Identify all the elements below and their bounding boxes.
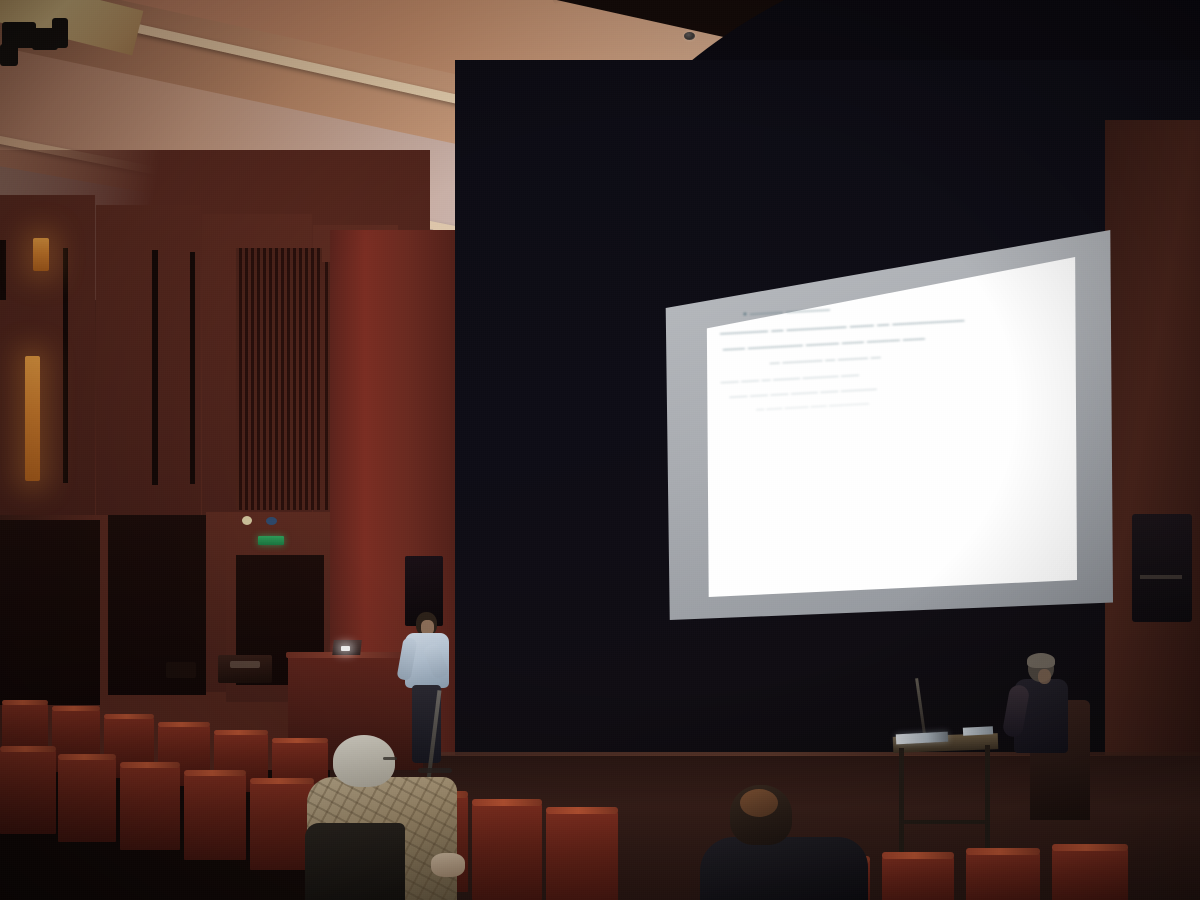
laptop-screen-glow [341, 646, 350, 651]
theater-seat[interactable] [0, 748, 56, 834]
audience-member-front-center [700, 785, 875, 900]
table-stretcher [900, 820, 988, 824]
table-leg [899, 748, 904, 853]
theater-seat-top [214, 730, 268, 735]
theater-seat-top [104, 714, 154, 719]
fluted-acoustic-panel [236, 248, 322, 510]
auditorium-photo: • ——— ———— ———— — ————— —— — —————— —— —… [0, 0, 1200, 900]
table-leg [985, 745, 990, 850]
theater-seat[interactable] [120, 764, 180, 850]
theater-seat-top [52, 706, 100, 711]
moderator-hand [1038, 669, 1051, 684]
theater-seat-top [2, 700, 48, 705]
audience-torso [700, 837, 868, 900]
theater-seat[interactable] [184, 772, 246, 860]
theater-seat[interactable] [472, 802, 542, 900]
av-equipment-box [218, 655, 272, 683]
emergency-exit-sign [258, 536, 284, 545]
wall-indicator-light [266, 517, 277, 525]
stage-light-fixture [52, 18, 68, 48]
theater-seat-top [0, 746, 56, 752]
av-equipment-box [166, 662, 196, 678]
wall-sconce [33, 238, 49, 271]
theater-seat-top [546, 807, 618, 814]
theater-seat-top [58, 754, 116, 760]
wall-sconce [25, 356, 40, 481]
theater-seat[interactable] [1052, 847, 1128, 900]
theater-seat-top [966, 848, 1040, 855]
loudspeaker-grille-stripe [1140, 575, 1182, 579]
audience-shoulder-shadow [305, 823, 405, 900]
audience-hand [431, 853, 465, 877]
theater-seat-top [158, 722, 210, 727]
wall-mounted-loudspeaker [1132, 514, 1192, 622]
theater-seat[interactable] [58, 756, 116, 842]
theater-seat-top [472, 799, 542, 806]
theater-seat-top [120, 762, 180, 768]
audience-scalp [740, 789, 778, 817]
wall-slot [152, 250, 158, 485]
wall-slot [0, 240, 6, 300]
papers-on-table [963, 726, 993, 736]
lighting-rig [0, 0, 150, 90]
wood-panel [96, 205, 201, 515]
theater-seat-top [882, 852, 954, 859]
wall-indicator-light [242, 516, 252, 525]
stage-light-fixture [0, 44, 18, 66]
wall-door[interactable] [0, 520, 100, 705]
wall-slot [190, 252, 195, 484]
av-equipment-box [230, 661, 260, 668]
theater-seat-top [1052, 844, 1128, 851]
theater-seat[interactable] [882, 855, 954, 900]
audience-hair [333, 735, 395, 787]
eyeglasses [383, 757, 397, 760]
theater-seat-top [184, 770, 246, 776]
moderator-hair [1027, 653, 1055, 668]
moderator [1010, 655, 1072, 815]
audience-member-front-left [305, 735, 480, 900]
theater-seat[interactable] [966, 851, 1040, 900]
wall-slot [63, 248, 68, 483]
theater-seat[interactable] [546, 810, 618, 900]
